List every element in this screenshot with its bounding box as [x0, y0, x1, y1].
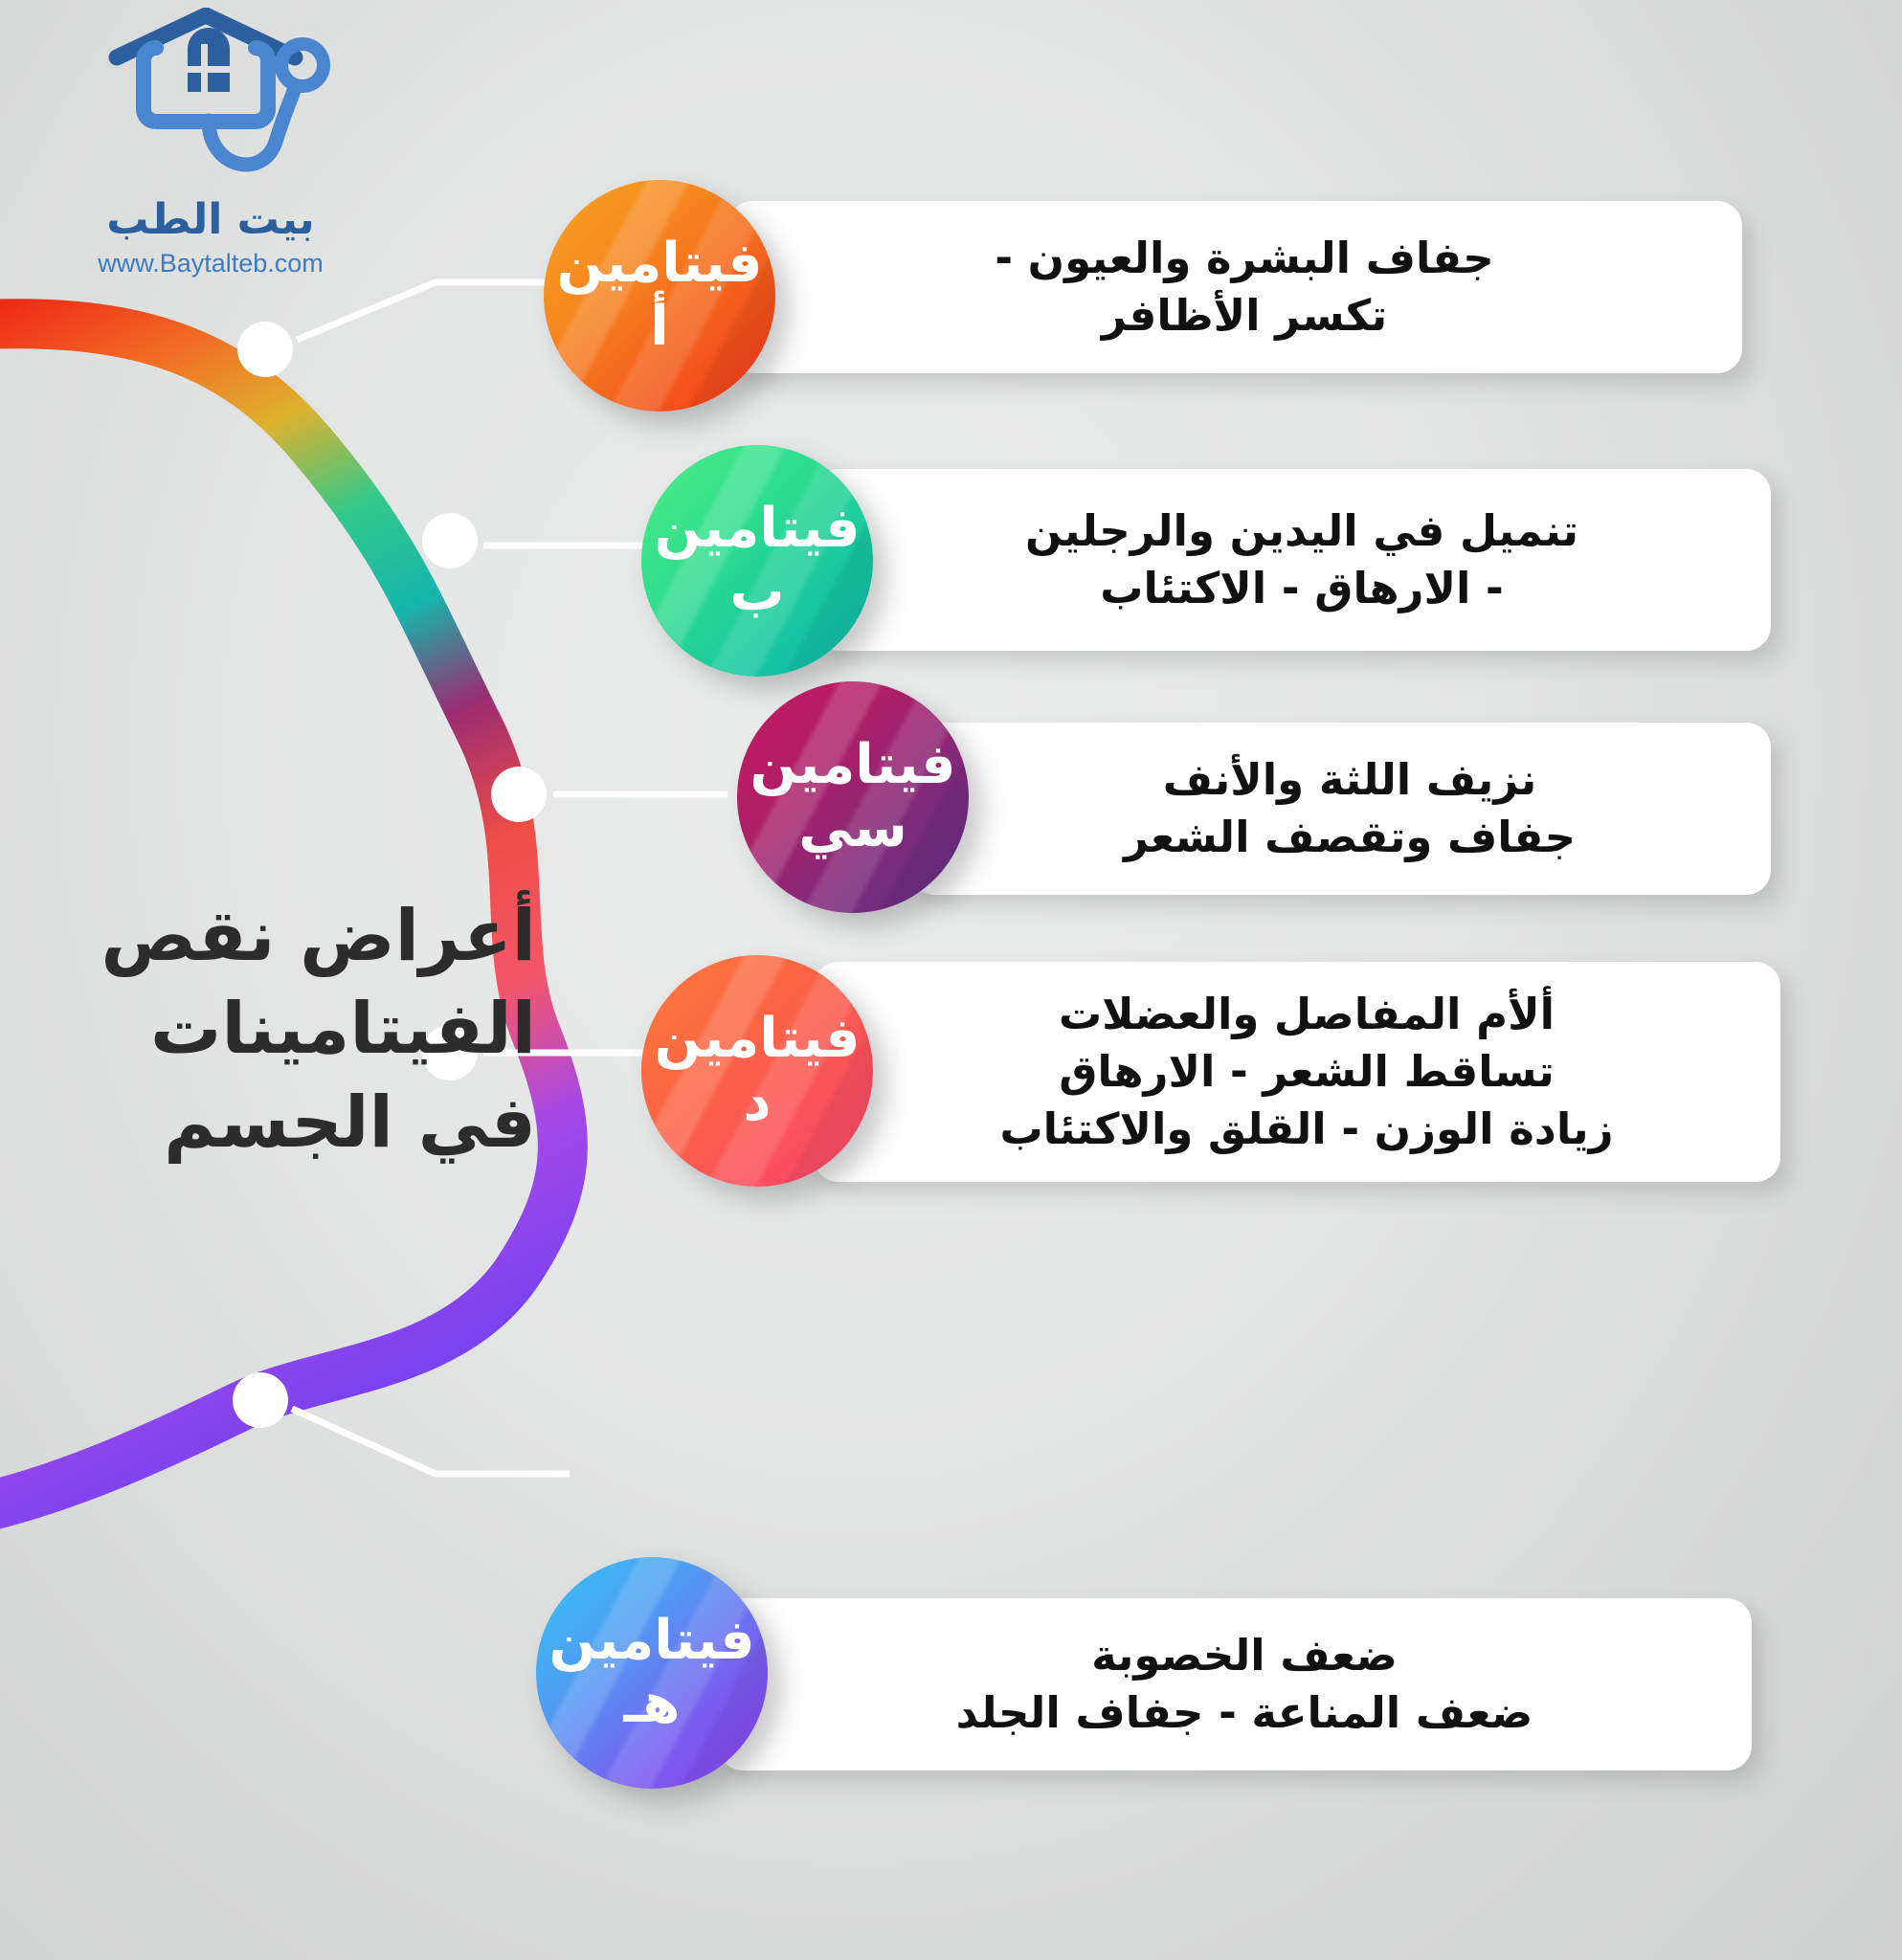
symptom-line: زيادة الوزن - القلق والاكتئاب	[999, 1103, 1613, 1154]
symptom-card-vitamin-a: جفاف البشرة والعيون - تكسر الأظافر	[727, 201, 1742, 373]
symptom-card-vitamin-d: ألأم المفاصل والعضلات تساقط الشعر - الار…	[814, 962, 1780, 1182]
badge-vitamin-b[interactable]: فيتامين ب	[641, 445, 873, 677]
badge-vitamin-e[interactable]: فيتامين هـ	[536, 1557, 768, 1789]
badge-vitamin-a[interactable]: فيتامين أ	[544, 180, 775, 412]
symptom-line: تنميل في اليدين والرجلين	[1025, 505, 1578, 556]
symptom-line: ألأم المفاصل والعضلات	[1059, 989, 1555, 1039]
symptom-line: جفاف البشرة والعيون -	[995, 233, 1493, 283]
infographic-canvas: بيت الطب www.Baytalteb.com	[0, 0, 1902, 1960]
symptom-card-vitamin-e: ضعف الخصوبة ضعف المناعة - جفاف الجلد	[718, 1598, 1752, 1771]
badge-vitamin-c[interactable]: فيتامين سي	[737, 681, 969, 913]
symptom-line: جفاف وتقصف الشعر	[1124, 812, 1576, 862]
row-vitamin-a: جفاف البشرة والعيون - تكسر الأظافر فيتام…	[536, 163, 1809, 402]
badge-title: فيتامين	[750, 738, 955, 792]
badge-vitamin-d[interactable]: فيتامين د	[641, 955, 873, 1187]
row-vitamin-d: ألأم المفاصل والعضلات تساقط الشعر - الار…	[632, 938, 1819, 1225]
row-vitamin-b: تنميل في اليدين والرجلين - الارهاق - الا…	[632, 431, 1819, 670]
symptom-card-vitamin-b: تنميل في اليدين والرجلين - الارهاق - الا…	[814, 469, 1771, 651]
symptom-card-vitamin-c: نزيف اللثة والأنف جفاف وتقصف الشعر	[909, 723, 1771, 895]
symptom-line: تكسر الأظافر	[1102, 290, 1387, 341]
row-vitamin-e: ضعف الخصوبة ضعف المناعة - جفاف الجلد فيت…	[526, 1555, 1819, 1794]
symptom-line: تساقط الشعر - الارهاق	[1059, 1046, 1555, 1097]
row-vitamin-c: نزيف اللثة والأنف جفاف وتقصف الشعر فيتام…	[727, 679, 1819, 919]
badge-title: فيتامين	[548, 1614, 754, 1668]
symptom-line: ضعف الخصوبة	[1091, 1630, 1398, 1681]
badge-letter: ب	[729, 564, 784, 621]
symptom-line: - الارهاق - الاكتئاب	[1100, 563, 1503, 613]
badge-letter: سي	[798, 800, 907, 857]
badge-letter: أ	[650, 299, 669, 356]
symptom-line: ضعف المناعة - جفاف الجلد	[956, 1687, 1533, 1738]
badge-title: فيتامين	[654, 501, 860, 556]
badge-letter: د	[743, 1074, 771, 1131]
page-title: أعراض نقص الفيتامينات في الجسم	[57, 890, 536, 1170]
badge-title: فيتامين	[556, 236, 762, 291]
badge-letter: هـ	[624, 1676, 681, 1733]
symptom-line: نزيف اللثة والأنف	[1163, 754, 1536, 805]
badge-title: فيتامين	[654, 1012, 860, 1066]
